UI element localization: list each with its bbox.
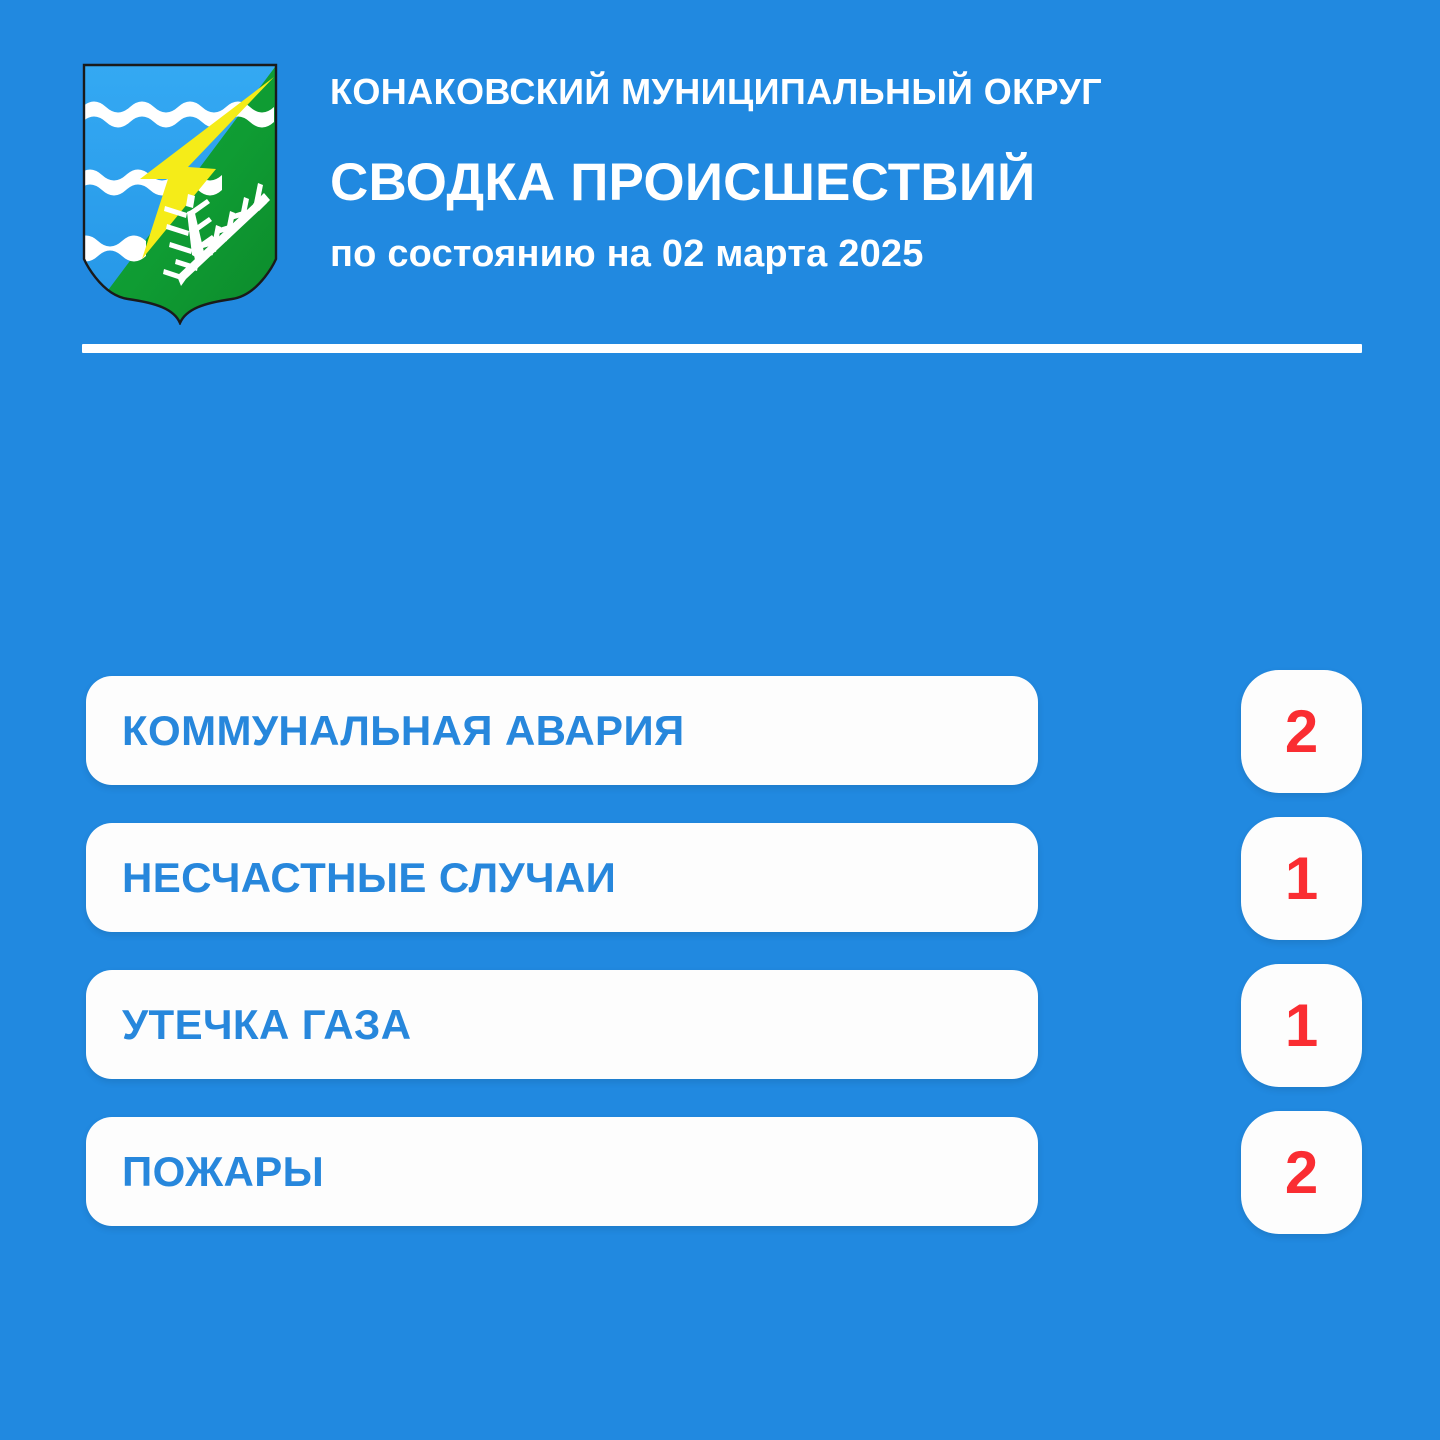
incident-count-badge[interactable]: 1 (1241, 817, 1362, 940)
incident-label: НЕСЧАСТНЫЕ СЛУЧАИ (122, 854, 616, 902)
incident-label-card[interactable]: УТЕЧКА ГАЗА (86, 970, 1038, 1079)
incident-count-badge[interactable]: 2 (1241, 1111, 1362, 1234)
incident-count-badge[interactable]: 2 (1241, 670, 1362, 793)
incident-label-card[interactable]: ПОЖАРЫ (86, 1117, 1038, 1226)
list-item: ПОЖАРЫ 2 (0, 1117, 1440, 1226)
incident-count-badge[interactable]: 1 (1241, 964, 1362, 1087)
incident-label-card[interactable]: КОММУНАЛЬНАЯ АВАРИЯ (86, 676, 1038, 785)
incident-count: 2 (1285, 1143, 1318, 1203)
incident-list: КОММУНАЛЬНАЯ АВАРИЯ 2 НЕСЧАСТНЫЕ СЛУЧАИ … (0, 676, 1440, 1226)
incident-count: 1 (1285, 849, 1318, 909)
header-divider (82, 344, 1362, 353)
report-date-subtitle: по состоянию на 02 марта 2025 (330, 230, 1360, 278)
list-item: УТЕЧКА ГАЗА 1 (0, 970, 1440, 1079)
incident-label-card[interactable]: НЕСЧАСТНЫЕ СЛУЧАИ (86, 823, 1038, 932)
list-item: НЕСЧАСТНЫЕ СЛУЧАИ 1 (0, 823, 1440, 932)
list-item: КОММУНАЛЬНАЯ АВАРИЯ 2 (0, 676, 1440, 785)
incident-label: ПОЖАРЫ (122, 1148, 324, 1196)
organization-name: КОНАКОВСКИЙ МУНИЦИПАЛЬНЫЙ ОКРУГ (330, 70, 1360, 114)
incident-count: 1 (1285, 996, 1318, 1056)
page-title: СВОДКА ПРОИСШЕСТВИЙ (330, 152, 1360, 214)
incident-summary-poster: КОНАКОВСКИЙ МУНИЦИПАЛЬНЫЙ ОКРУГ СВОДКА П… (0, 0, 1440, 1440)
konakovo-coat-of-arms-icon (82, 63, 278, 325)
incident-label: КОММУНАЛЬНАЯ АВАРИЯ (122, 707, 685, 755)
incident-label: УТЕЧКА ГАЗА (122, 1001, 411, 1049)
incident-count: 2 (1285, 702, 1318, 762)
poster-header: КОНАКОВСКИЙ МУНИЦИПАЛЬНЫЙ ОКРУГ СВОДКА П… (82, 58, 1362, 358)
header-text-block: КОНАКОВСКИЙ МУНИЦИПАЛЬНЫЙ ОКРУГ СВОДКА П… (330, 58, 1360, 278)
